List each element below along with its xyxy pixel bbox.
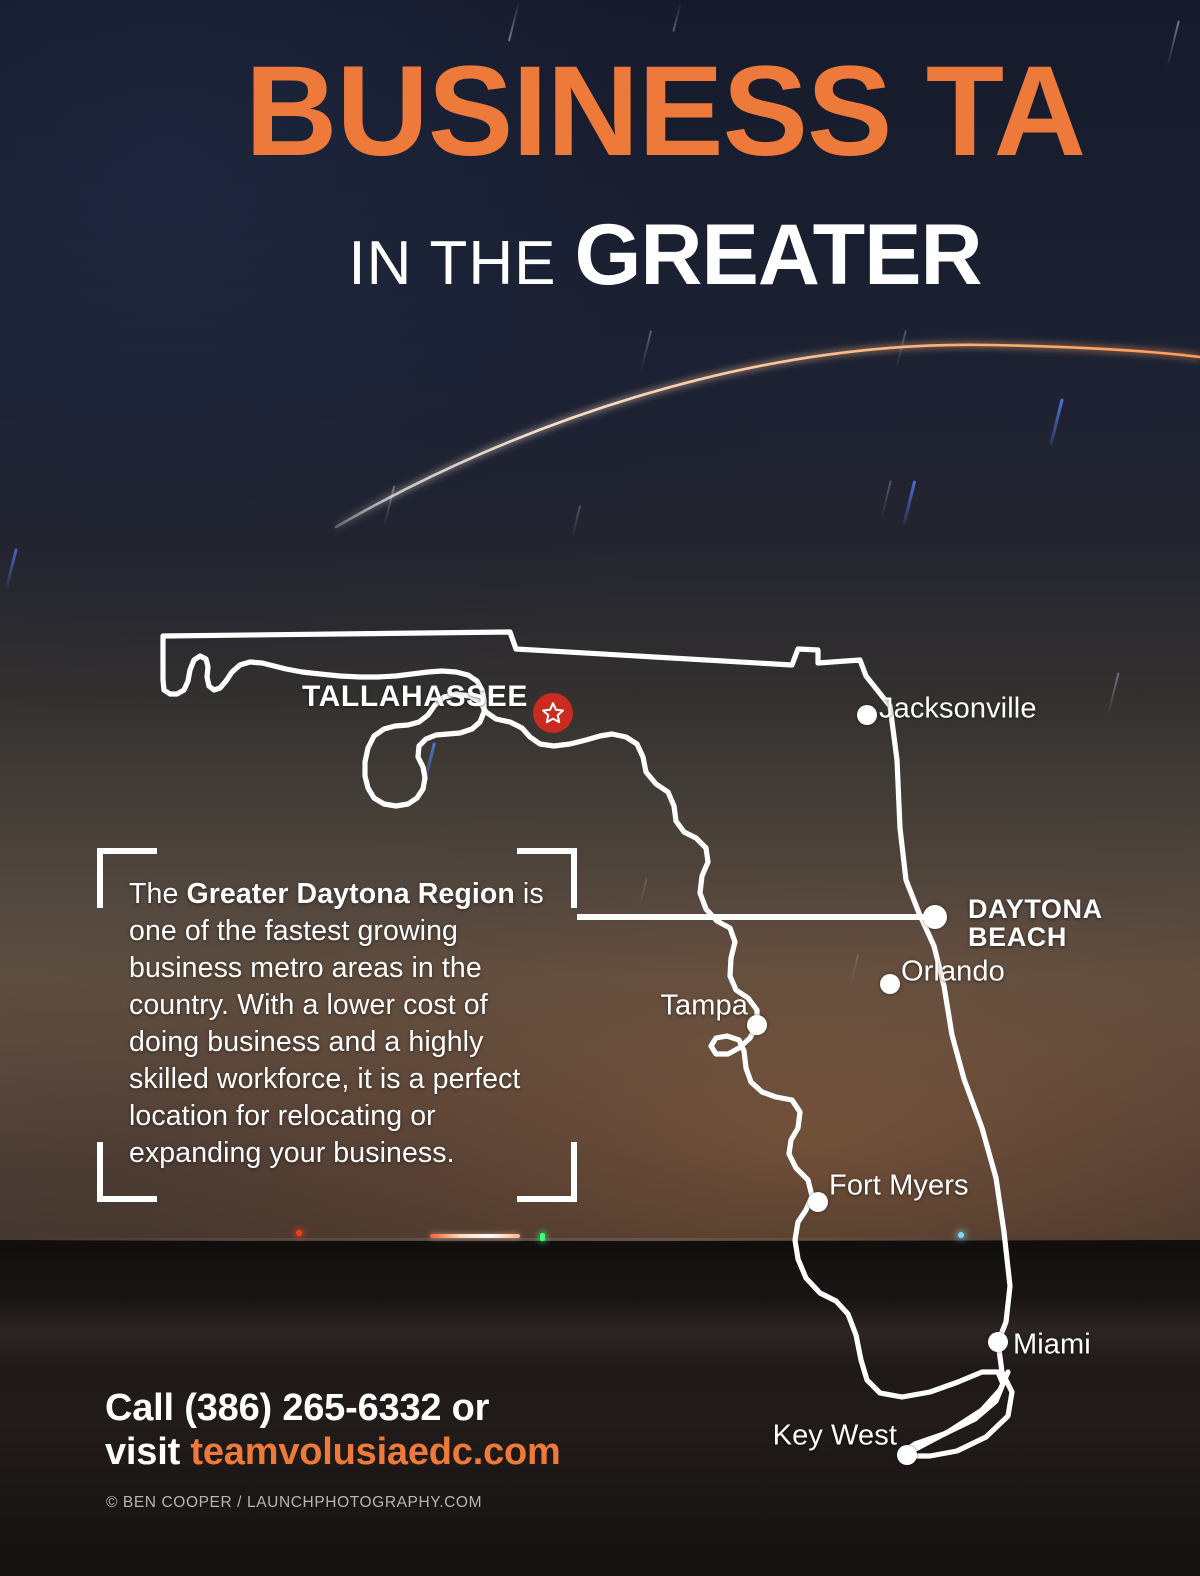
- horizon-light-blue-1: [958, 1232, 964, 1238]
- callout-paragraph: The Greater Daytona Region is one of the…: [129, 876, 559, 1172]
- capital-star-marker: [533, 693, 573, 733]
- cta-website-link[interactable]: teamvolusiaedc.com: [190, 1431, 560, 1473]
- city-label-tampa: Tampa: [660, 990, 748, 1023]
- callout-box: The Greater Daytona Region is one of the…: [97, 848, 577, 1202]
- city-label-daytona-beach: DAYTONA BEACH: [968, 896, 1103, 952]
- city-dot-jacksonville: [857, 705, 877, 725]
- subtitle-thin-part: IN THE: [348, 229, 556, 298]
- cta-line-1: Call (386) 265-6332 or: [105, 1386, 765, 1430]
- city-label-miami: Miami: [1013, 1329, 1091, 1362]
- horizon-light-green-1: [540, 1233, 545, 1241]
- daytona-label-line2: BEACH: [968, 924, 1103, 952]
- callout-text-after: is one of the fastest growing business m…: [129, 878, 544, 1169]
- cta-visit-label: visit: [105, 1431, 190, 1473]
- city-label-tallahassee: TALLAHASSEE: [302, 680, 528, 714]
- page-title: BUSINESS TA: [0, 48, 1200, 176]
- horizon-light-red-1: [296, 1230, 302, 1236]
- star-icon: [541, 701, 565, 725]
- page-subtitle: IN THEGREATER: [0, 212, 1200, 298]
- subtitle-heavy-part: GREATER: [575, 207, 982, 303]
- city-dot-key-west: [897, 1445, 917, 1465]
- daytona-label-line1: DAYTONA: [968, 896, 1103, 924]
- cta-line-2: visit teamvolusiaedc.com: [105, 1430, 765, 1474]
- callout-leader-line: [577, 914, 937, 920]
- city-dot-fort-myers: [808, 1192, 828, 1212]
- callout-text-before: The: [129, 878, 186, 910]
- city-dot-orlando: [880, 974, 900, 994]
- city-label-fort-myers: Fort Myers: [829, 1170, 969, 1203]
- city-label-orlando: Orlando: [901, 956, 1005, 989]
- photo-credit: © BEN COOPER / LAUNCHPHOTOGRAPHY.COM: [106, 1494, 482, 1512]
- city-label-jacksonville: Jacksonville: [879, 693, 1037, 726]
- callout-text-bold: Greater Daytona Region: [186, 878, 514, 910]
- city-dot-miami: [988, 1332, 1008, 1352]
- city-dot-tampa: [747, 1015, 767, 1035]
- city-label-key-west: Key West: [773, 1420, 897, 1453]
- contact-cta[interactable]: Call (386) 265-6332 or visit teamvolusia…: [105, 1386, 765, 1475]
- horizon-light-white-strip: [430, 1234, 520, 1238]
